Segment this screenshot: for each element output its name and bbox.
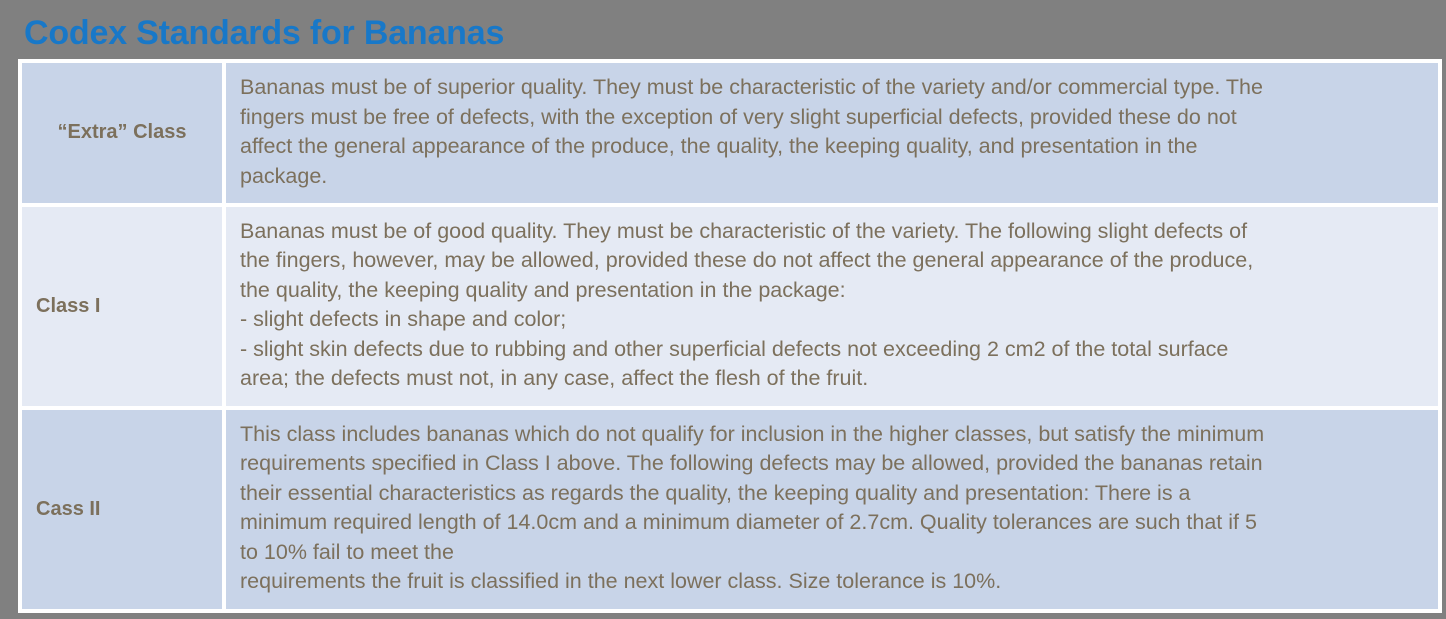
page-title: Codex Standards for Bananas bbox=[24, 13, 504, 53]
body-line: minimum required length of 14.0cm and a … bbox=[240, 508, 1424, 538]
body-line: area; the defects must not, in any case,… bbox=[240, 364, 1424, 394]
body-line: - slight defects in shape and color; bbox=[240, 305, 1424, 335]
body-line: package. bbox=[240, 162, 1424, 192]
row-body-extra-class: Bananas must be of superior quality. The… bbox=[226, 63, 1438, 203]
row-label-class-i: Class I bbox=[22, 207, 222, 406]
codex-standards-table: “Extra” Class Bananas must be of superio… bbox=[18, 59, 1442, 613]
row-body-class-i: Bananas must be of good quality. They mu… bbox=[226, 207, 1438, 406]
body-line: to 10% fail to meet the bbox=[240, 538, 1424, 568]
body-line: fingers must be free of defects, with th… bbox=[240, 103, 1424, 133]
slide: Codex Standards for Bananas “Extra” Clas… bbox=[0, 0, 1446, 619]
body-line: Bananas must be of good quality. They mu… bbox=[240, 217, 1424, 247]
row-label-cass-ii: Cass II bbox=[22, 410, 222, 609]
body-line: their essential characteristics as regar… bbox=[240, 479, 1424, 509]
body-line: affect the general appearance of the pro… bbox=[240, 132, 1424, 162]
body-line: the fingers, however, may be allowed, pr… bbox=[240, 246, 1424, 276]
body-line: - slight skin defects due to rubbing and… bbox=[240, 335, 1424, 365]
body-line: This class includes bananas which do not… bbox=[240, 420, 1424, 450]
row-label-extra-class: “Extra” Class bbox=[22, 63, 222, 203]
table-row: Cass II This class includes bananas whic… bbox=[22, 410, 1438, 609]
standards-table: “Extra” Class Bananas must be of superio… bbox=[18, 59, 1442, 613]
table-row: Class I Bananas must be of good quality.… bbox=[22, 207, 1438, 406]
row-body-cass-ii: This class includes bananas which do not… bbox=[226, 410, 1438, 609]
body-line: Bananas must be of superior quality. The… bbox=[240, 73, 1424, 103]
body-line: requirements the fruit is classified in … bbox=[240, 567, 1424, 597]
body-line: requirements specified in Class I above.… bbox=[240, 449, 1424, 479]
table-row: “Extra” Class Bananas must be of superio… bbox=[22, 63, 1438, 203]
body-line: the quality, the keeping quality and pre… bbox=[240, 276, 1424, 306]
